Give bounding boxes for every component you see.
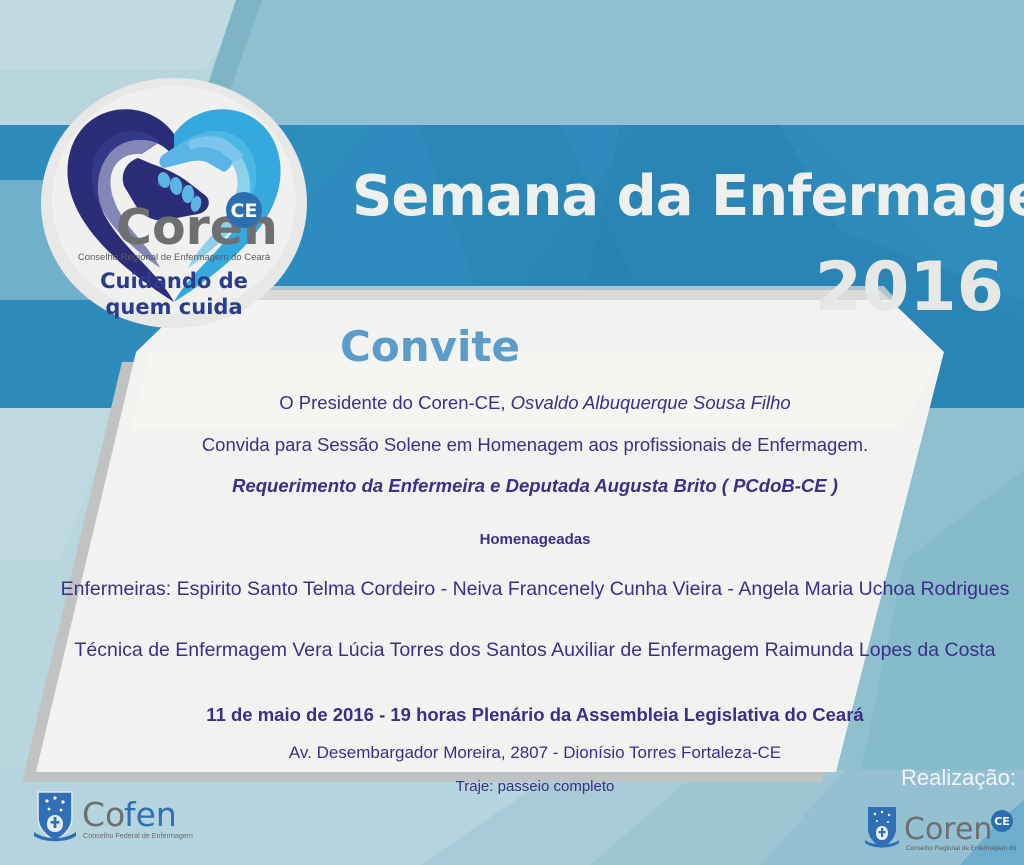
- headline-block: Semana da Enfermagem 2016: [352, 168, 1020, 324]
- coren-ce-logo-small: Coren CE Conselho Regional de Enfermagem…: [864, 805, 1016, 857]
- invitation-poster: Coren CE Conselho Regional de Enfermagem…: [0, 0, 1024, 865]
- cofen-wordmark-part2: fen: [124, 795, 177, 834]
- coren-small-tagline: Conselho Regional de Enfermagem do Ceará: [906, 845, 1016, 852]
- event-year: 2016: [352, 252, 1020, 324]
- honorees-heading: Homenageadas: [60, 531, 1010, 548]
- event-title: Semana da Enfermagem: [352, 168, 1020, 226]
- president-prefix: O Presidente do Coren-CE,: [279, 392, 510, 413]
- event-address: Av. Desembargador Moreira, 2807 - Dionís…: [60, 743, 1010, 763]
- coren-ce-badge: CE: [231, 200, 258, 222]
- coren-slogan-line-1: Cuidando de: [100, 269, 248, 293]
- invite-heading: Convite: [0, 322, 860, 371]
- requirement-line: Requerimento da Enfermeira e Deputada Au…: [60, 475, 1010, 497]
- honorees-nurses-line: Enfermeiras: Espirito Santo Telma Cordei…: [60, 578, 1010, 601]
- cofen-logo: Co fen Conselho Federal de Enfermagem: [28, 788, 198, 848]
- invitation-body: O Presidente do Coren-CE, Osvaldo Albuqu…: [60, 392, 1010, 795]
- coren-small-wordmark: Coren: [904, 812, 992, 847]
- coren-small-ce-badge: CE: [994, 815, 1010, 828]
- coren-ce-logo: Coren CE Conselho Regional de Enfermagem…: [38, 76, 310, 331]
- president-name: Osvaldo Albuquerque Sousa Filho: [511, 392, 791, 413]
- event-datetime-venue: 11 de maio de 2016 - 19 horas Plenário d…: [60, 704, 1010, 726]
- invitation-line: Convida para Sessão Solene em Homenagem …: [60, 434, 1010, 456]
- cofen-tagline: Conselho Federal de Enfermagem: [83, 831, 193, 840]
- honorees-technicians-line: Técnica de Enfermagem Vera Lúcia Torres …: [60, 639, 1010, 662]
- president-line: O Presidente do Coren-CE, Osvaldo Albuqu…: [60, 392, 1010, 414]
- coren-tagline: Conselho Regional de Enfermagem do Ceará: [78, 252, 271, 263]
- realizacao-label: Realização:: [836, 765, 1016, 791]
- cofen-wordmark-part1: Co: [82, 795, 125, 834]
- coren-slogan-line-2: quem cuida: [105, 295, 242, 319]
